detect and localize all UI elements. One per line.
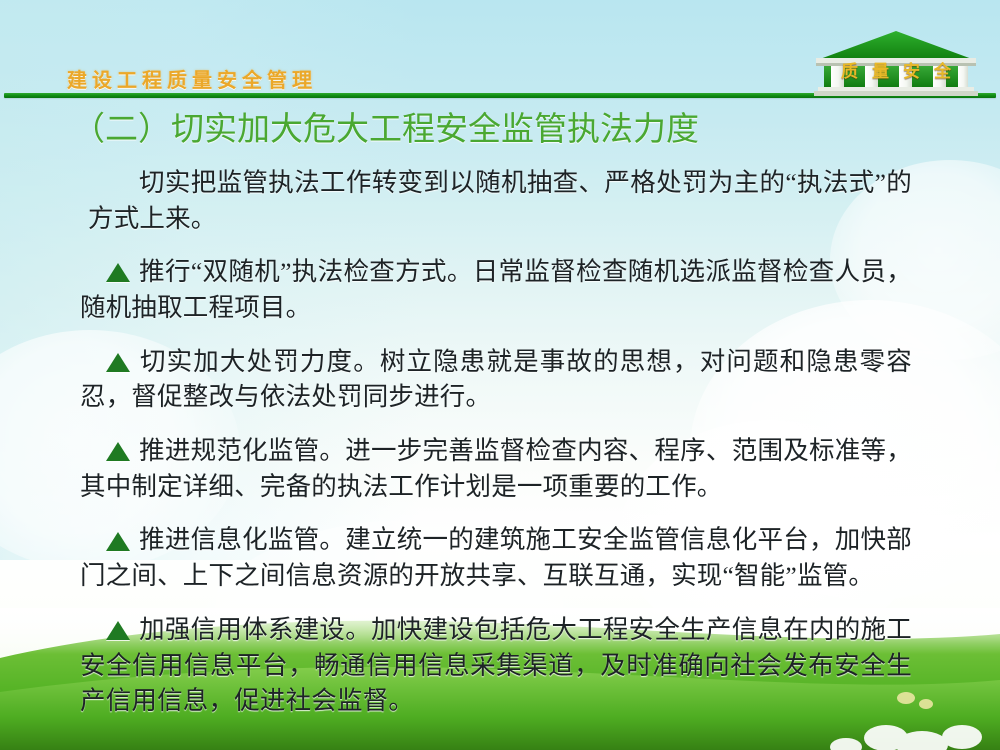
list-item-text: 推进规范化监管。进一步完善监督检查内容、程序、范围及标准等，其中制定详细、完备的…: [80, 436, 912, 501]
slide-content: （二）切实加大危大工程安全监管执法力度 切实把监管执法工作转变到以随机抽查、严格…: [0, 104, 1000, 719]
list-item: 加强信用体系建设。加快建设包括危大工程安全生产信息在内的施工安全信用信息平台，畅…: [80, 612, 912, 719]
intro-paragraph: 切实把监管执法工作转变到以随机抽查、严格处罚为主的“执法式”的方式上来。: [88, 165, 912, 236]
triangle-bullet-icon: [106, 353, 130, 372]
quality-safety-temple-logo: 质量安全: [806, 27, 986, 99]
triangle-bullet-icon: [106, 442, 130, 461]
list-item-text: 切实加大处罚力度。树立隐患就是事故的思想，对问题和隐患零容忍，督促整改与依法处罚…: [80, 347, 912, 412]
header-title: 建设工程质量安全管理: [67, 64, 317, 93]
triangle-bullet-icon: [106, 621, 130, 640]
triangle-bullet-icon: [106, 532, 130, 551]
triangle-bullet-icon: [106, 263, 130, 282]
list-item-text: 加强信用体系建设。加快建设包括危大工程安全生产信息在内的施工安全信用信息平台，畅…: [80, 615, 912, 715]
page-title: （二）切实加大危大工程安全监管执法力度: [72, 112, 1000, 149]
list-item: 推行“双随机”执法检查方式。日常监督检查随机选派监督检查人员，随机抽取工程项目。: [80, 254, 912, 325]
list-item-text: 推行“双随机”执法检查方式。日常监督检查随机选派监督检查人员，随机抽取工程项目。: [80, 257, 912, 322]
list-item: 推进信息化监管。建立统一的建筑施工安全监管信息化平台，加快部门之间、上下之间信息…: [80, 522, 912, 593]
slide-header: 建设工程质量安全管理: [0, 0, 1000, 104]
list-item: 推进规范化监管。进一步完善监督检查内容、程序、范围及标准等，其中制定详细、完备的…: [80, 433, 912, 504]
list-item-text: 推进信息化监管。建立统一的建筑施工安全监管信息化平台，加快部门之间、上下之间信息…: [80, 525, 912, 590]
list-item: 切实加大处罚力度。树立隐患就是事故的思想，对问题和隐患零容忍，督促整改与依法处罚…: [80, 344, 912, 415]
presentation-slide: 建设工程质量安全管理: [0, 0, 1000, 750]
